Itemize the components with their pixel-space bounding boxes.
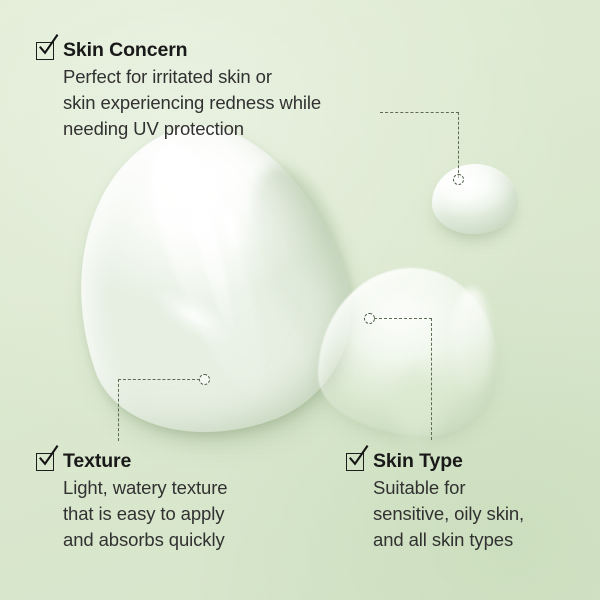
callout-description: Suitable for sensitive, oily skin, and a…: [346, 475, 524, 553]
callout-line: that is easy to apply: [63, 501, 227, 527]
spread-notch: [386, 359, 447, 450]
connector-segment-horizontal: [380, 112, 459, 113]
cream-spread: [318, 268, 498, 436]
callout-line: Perfect for irritated skin or: [63, 64, 321, 90]
callout-header: Skin Type: [346, 451, 524, 471]
callout-texture: Texture Light, watery texture that is ea…: [36, 451, 227, 553]
connector-segment-horizontal: [374, 318, 432, 319]
callout-title: Skin Type: [373, 451, 463, 471]
spread-gloss: [451, 288, 491, 399]
callout-title: Texture: [63, 451, 131, 471]
connector-segment-vertical: [118, 379, 119, 441]
callout-skin-type: Skin Type Suitable for sensitive, oily s…: [346, 451, 524, 553]
callout-point-marker: [199, 374, 210, 385]
check-icon: [38, 449, 58, 469]
callout-description: Light, watery texture that is easy to ap…: [36, 475, 227, 553]
callout-line: skin experiencing redness while: [63, 90, 321, 116]
check-icon: [348, 449, 368, 469]
callout-title: Skin Concern: [63, 40, 188, 60]
checkbox-checked[interactable]: [36, 453, 54, 471]
checkbox-checked[interactable]: [346, 453, 364, 471]
callout-header: Texture: [36, 451, 227, 471]
callout-point-marker: [453, 174, 464, 185]
cream-droplet: [432, 164, 518, 234]
callout-line: Suitable for: [373, 475, 524, 501]
callout-skin-concern: Skin Concern Perfect for irritated skin …: [36, 40, 321, 142]
callout-line: sensitive, oily skin,: [373, 501, 524, 527]
checkbox-checked[interactable]: [36, 42, 54, 60]
callout-header: Skin Concern: [36, 40, 321, 60]
callout-line: and absorbs quickly: [63, 527, 227, 553]
callout-line: Light, watery texture: [63, 475, 227, 501]
product-texture-infographic: Skin Concern Perfect for irritated skin …: [0, 0, 600, 600]
callout-line: needing UV protection: [63, 116, 321, 142]
check-icon: [38, 38, 58, 58]
connector-segment-horizontal: [118, 379, 200, 380]
connector-segment-vertical: [458, 112, 459, 178]
connector-segment-vertical: [431, 318, 432, 440]
callout-line: and all skin types: [373, 527, 524, 553]
callout-description: Perfect for irritated skin or skin exper…: [36, 64, 321, 142]
